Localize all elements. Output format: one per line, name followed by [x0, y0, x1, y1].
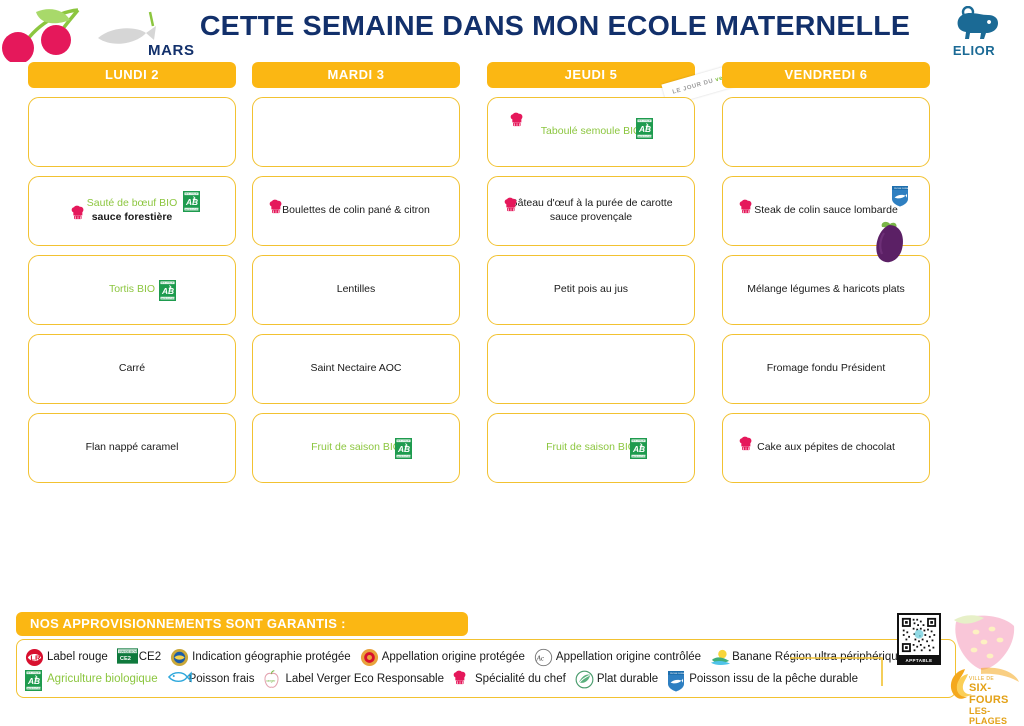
dish-name: Flan nappé caramel — [70, 441, 195, 455]
svg-text:PECHE DURABLE: PECHE DURABLE — [894, 187, 909, 190]
dish-card[interactable] — [722, 97, 930, 167]
ab-organic-badge-icon: BIOLOGIQUEAGRICULTUREAB — [636, 118, 653, 144]
legend-item-label: Appellation origine contrôlée — [556, 651, 701, 663]
ce2-icon: VIANDE BOVINECE2 — [117, 648, 136, 667]
eggplant-decoration-icon — [871, 219, 907, 270]
legend-item-label: Appellation origine protégée — [382, 651, 525, 663]
ab-organic-badge-icon: BIOLOGIQUEAGRICULTUREAB — [395, 438, 412, 464]
svg-text:CE2: CE2 — [120, 655, 131, 661]
dish-name: Petit pois au jus — [538, 283, 644, 297]
menu-grid: LUNDI 2Sauté de bœuf BIOsauce forestière… — [0, 62, 1024, 542]
dish-card[interactable]: Flan nappé caramel — [28, 413, 236, 483]
city-logo-line3: LES-PLAGES — [969, 706, 1024, 726]
dish-name: Fromage fondu Président — [751, 362, 901, 376]
page-header: MARS CETTE SEMAINE DANS MON ECOLE MATERN… — [0, 0, 1024, 62]
city-logo-line2: SIX-FOURS — [969, 682, 1024, 706]
svg-text:AGRICULTURE: AGRICULTURE — [185, 208, 200, 211]
chef-hat-icon — [739, 436, 753, 457]
month-label: MARS — [148, 42, 195, 59]
apptable-qr[interactable]: APPTABLE — [897, 613, 941, 665]
legend-qr-connector — [790, 640, 902, 688]
dish-card[interactable]: Steak de colin sauce lombardePECHE DURAB… — [722, 176, 930, 246]
dish-card[interactable] — [28, 97, 236, 167]
svg-text:BIOLOGIQUE: BIOLOGIQUE — [397, 441, 410, 443]
legend-item: Appellation origine protégée — [360, 648, 525, 667]
dish-card[interactable] — [252, 97, 460, 167]
legend-item-label: CE2 — [139, 651, 161, 663]
ab-organic-badge-icon: BIOLOGIQUEAGRICULTUREAB — [630, 438, 647, 464]
dish-card[interactable]: Saint Nectaire AOC — [252, 334, 460, 404]
svg-text:AB: AB — [397, 444, 410, 454]
plat-durable-icon — [575, 670, 594, 689]
dish-card[interactable]: Sauté de bœuf BIOsauce forestièreBIOLOGI… — [28, 176, 236, 246]
banane-rup-icon — [710, 648, 729, 667]
legend-item-label: Agriculture biologique — [47, 673, 158, 685]
day-column-1: MARDI 3Boulettes de colin pané & citronL… — [252, 62, 460, 483]
legend-item: Indication géographie protégée — [170, 648, 351, 667]
svg-text:VIANDE BOVINE: VIANDE BOVINE — [119, 649, 138, 653]
day-tab-1[interactable]: MARDI 3 — [252, 62, 460, 88]
sustainable-fishing-badge-icon: PECHE DURABLE — [891, 185, 909, 212]
dish-name: Steak de colin sauce lombarde — [738, 204, 914, 218]
chef-hat-icon — [453, 670, 472, 689]
dish-card[interactable]: Fromage fondu Président — [722, 334, 930, 404]
day-tab-2[interactable]: JEUDI 5LE JOUR DU veg — [487, 62, 695, 88]
dish-card[interactable]: Boulettes de colin pané & citron — [252, 176, 460, 246]
legend-item-label: Spécialité du chef — [475, 673, 566, 685]
svg-text:AB: AB — [185, 197, 198, 207]
elior-brand-name: ELIOR — [936, 43, 1012, 58]
legend-item: vergerLabel Verger Eco Responsable — [263, 670, 444, 689]
svg-text:AB: AB — [638, 124, 651, 134]
svg-text:BIOLOGIQUE: BIOLOGIQUE — [161, 283, 174, 285]
ab-bio-icon: BIOLOGIQUEAGRICULTUREAB — [25, 670, 44, 689]
chef-hat-icon — [739, 199, 753, 220]
legend-item: Plat durable — [575, 670, 658, 689]
verger-eco-icon: verger — [263, 670, 282, 689]
aoc-icon: Ac — [534, 648, 553, 667]
dish-name: Saint Nectaire AOC — [294, 362, 417, 376]
igp-icon — [170, 648, 189, 667]
dish-name: Carré — [103, 362, 161, 376]
svg-text:BIOLOGIQUE: BIOLOGIQUE — [27, 672, 40, 674]
chef-hat-icon — [504, 197, 518, 218]
svg-text:AGRICULTURE: AGRICULTURE — [161, 297, 176, 300]
day-tab-3[interactable]: VENDREDI 6 — [722, 62, 930, 88]
day-column-0: LUNDI 2Sauté de bœuf BIOsauce forestière… — [28, 62, 236, 483]
dish-card[interactable]: Cake aux pépites de chocolat — [722, 413, 930, 483]
day-column-3: VENDREDI 6Steak de colin sauce lombardeP… — [722, 62, 930, 483]
legend-item: LRLabel rouge — [25, 648, 108, 667]
chef-hat-icon — [71, 205, 85, 226]
day-tab-label: VENDREDI 6 — [784, 67, 867, 82]
dish-card[interactable]: Petit pois au jus — [487, 255, 695, 325]
svg-text:BIOLOGIQUE: BIOLOGIQUE — [632, 441, 645, 443]
ab-organic-badge-icon: BIOLOGIQUEAGRICULTUREAB — [159, 280, 176, 306]
aop-icon — [360, 648, 379, 667]
elior-logo: ELIOR — [936, 6, 1012, 58]
six-fours-les-plages-logo: VILLE DE SIX-FOURS LES-PLAGES — [945, 662, 1024, 707]
elior-bison-icon — [944, 6, 1004, 40]
svg-text:AGRICULTURE: AGRICULTURE — [638, 135, 653, 138]
legend-item: BIOLOGIQUEAGRICULTUREABAgriculture biolo… — [25, 670, 158, 689]
dish-name: Lentilles — [321, 283, 392, 297]
legend-item-label: Label Verger Eco Responsable — [285, 673, 444, 685]
day-tab-label: LUNDI 2 — [105, 67, 159, 82]
day-column-2: JEUDI 5LE JOUR DU vegTaboulé semoule BIO… — [487, 62, 695, 483]
svg-text:AGRICULTURE: AGRICULTURE — [397, 455, 412, 458]
dish-name: Mélange légumes & haricots plats — [731, 283, 921, 297]
svg-text:AB: AB — [161, 286, 174, 296]
fish-fresh-icon — [167, 670, 186, 689]
day-tab-label: MARDI 3 — [328, 67, 385, 82]
dish-name: Sauté de bœuf BIOsauce forestière — [71, 197, 193, 224]
legend-item-label: Label rouge — [47, 651, 108, 663]
chef-hat-icon — [510, 112, 524, 133]
svg-text:AGRICULTURE: AGRICULTURE — [27, 686, 42, 689]
dish-card[interactable]: Lentilles — [252, 255, 460, 325]
dish-card[interactable]: Carré — [28, 334, 236, 404]
legend-item-label: Indication géographie protégée — [192, 651, 351, 663]
dish-card[interactable]: Tortis BIOBIOLOGIQUEAGRICULTUREAB — [28, 255, 236, 325]
dish-name: Gâteau d'œuf à la purée de carotte sauce… — [488, 197, 694, 224]
dish-card[interactable] — [487, 334, 695, 404]
legend-item: AcAppellation origine contrôlée — [534, 648, 701, 667]
dish-name: Cake aux pépites de chocolat — [741, 441, 911, 455]
svg-text:BIOLOGIQUE: BIOLOGIQUE — [638, 121, 651, 123]
svg-text:AGRICULTURE: AGRICULTURE — [632, 455, 647, 458]
legend-item: Spécialité du chef — [453, 670, 566, 689]
legend-item-label: Plat durable — [597, 673, 658, 685]
dish-name: Boulettes de colin pané & citron — [266, 204, 446, 218]
ab-organic-badge-icon: BIOLOGIQUEAGRICULTUREAB — [183, 191, 200, 217]
peche-durable-icon: PECHE DURABLE — [667, 670, 686, 689]
veg-sticker-text: LE JOUR DU — [672, 78, 714, 95]
legend-item: VIANDE BOVINECE2CE2 — [117, 648, 161, 667]
legend-title: NOS APPROVISIONNEMENTS SONT GARANTIS : — [16, 612, 468, 636]
legend-item: Poisson frais — [167, 670, 255, 689]
svg-text:LR: LR — [30, 653, 41, 662]
svg-text:PECHE DURABLE: PECHE DURABLE — [670, 672, 685, 675]
svg-text:AB: AB — [632, 444, 645, 454]
dish-card[interactable]: Fruit de saison BIOBIOLOGIQUEAGRICULTURE… — [252, 413, 460, 483]
page-title: CETTE SEMAINE DANS MON ECOLE MATERNELLE — [183, 10, 928, 42]
dish-sub-name: sauce forestière — [87, 211, 177, 225]
svg-text:AB: AB — [27, 676, 40, 686]
dish-card[interactable]: Fruit de saison BIOBIOLOGIQUEAGRICULTURE… — [487, 413, 695, 483]
dish-card[interactable]: Taboulé semoule BIOBIOLOGIQUEAGRICULTURE… — [487, 97, 695, 167]
label-rouge-icon: LR — [25, 648, 44, 667]
chef-hat-icon — [269, 199, 283, 220]
legend-item-label: Poisson frais — [189, 673, 255, 685]
day-tab-0[interactable]: LUNDI 2 — [28, 62, 236, 88]
qr-label: APPTABLE — [897, 657, 941, 665]
svg-text:verger: verger — [267, 678, 277, 682]
day-tab-label: JEUDI 5 — [565, 67, 618, 82]
qr-code-icon[interactable] — [897, 613, 941, 657]
svg-text:BIOLOGIQUE: BIOLOGIQUE — [185, 194, 198, 196]
dish-card[interactable]: Gâteau d'œuf à la purée de carotte sauce… — [487, 176, 695, 246]
svg-text:Ac: Ac — [535, 654, 544, 662]
